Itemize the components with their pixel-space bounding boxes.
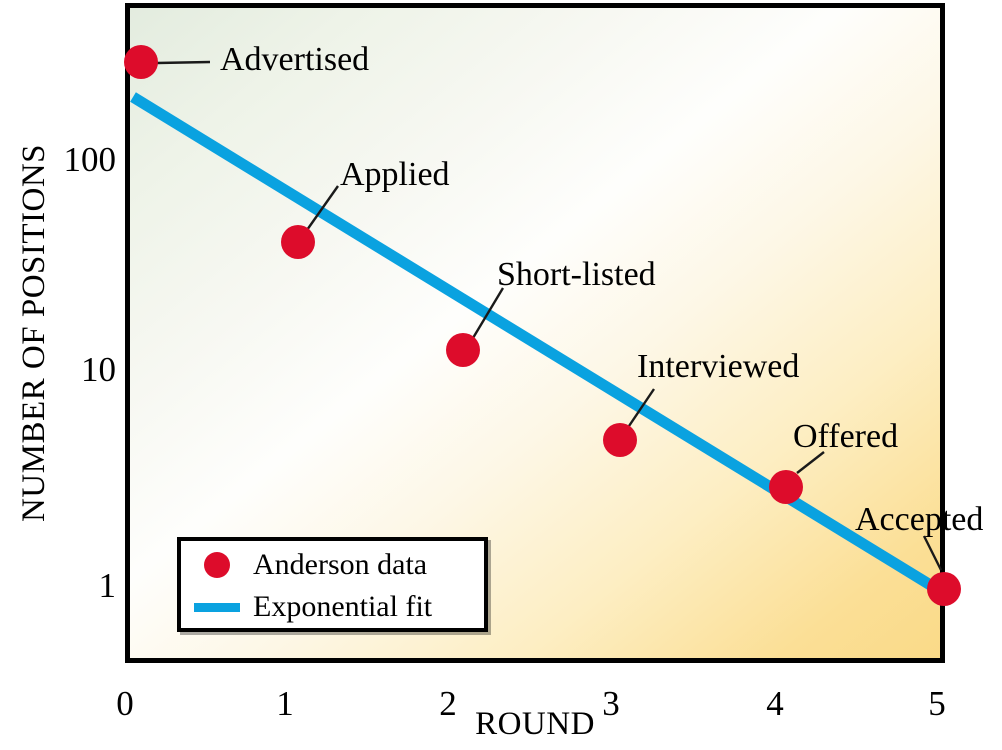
x-tick-3 (616, 658, 621, 663)
x-axis-title: ROUND (125, 708, 945, 741)
x-tick-5 (942, 658, 945, 663)
y-tick-100 (125, 165, 130, 170)
legend-marker-line-icon (181, 603, 253, 612)
legend-label-exponential-fit: Exponential fit (253, 592, 432, 622)
chart-figure: 100 10 1 0 1 2 3 4 5 NUMBER OF POSITIONS… (0, 0, 1002, 750)
annotation-advertised: Advertised (220, 43, 369, 77)
annotation-accepted: Accepted (855, 503, 983, 537)
x-tick-2 (453, 658, 458, 663)
legend: Anderson data Exponential fit (177, 537, 488, 632)
annotation-short-listed: Short-listed (497, 258, 656, 292)
legend-entry-exponential-fit: Exponential fit (181, 585, 484, 629)
legend-label-anderson-data: Anderson data (253, 550, 427, 580)
y-axis-title: NUMBER OF POSITIONS (12, 3, 56, 663)
annotation-interviewed: Interviewed (637, 350, 799, 384)
annotation-offered: Offered (793, 420, 898, 454)
x-tick-1 (290, 658, 295, 663)
y-tick-10 (125, 375, 130, 380)
x-tick-4 (780, 658, 785, 663)
legend-entry-anderson-data: Anderson data (181, 543, 484, 587)
y-tick-1 (125, 591, 130, 596)
annotation-applied: Applied (340, 158, 450, 192)
x-tick-0 (130, 658, 135, 663)
legend-marker-circle-icon (181, 552, 253, 578)
